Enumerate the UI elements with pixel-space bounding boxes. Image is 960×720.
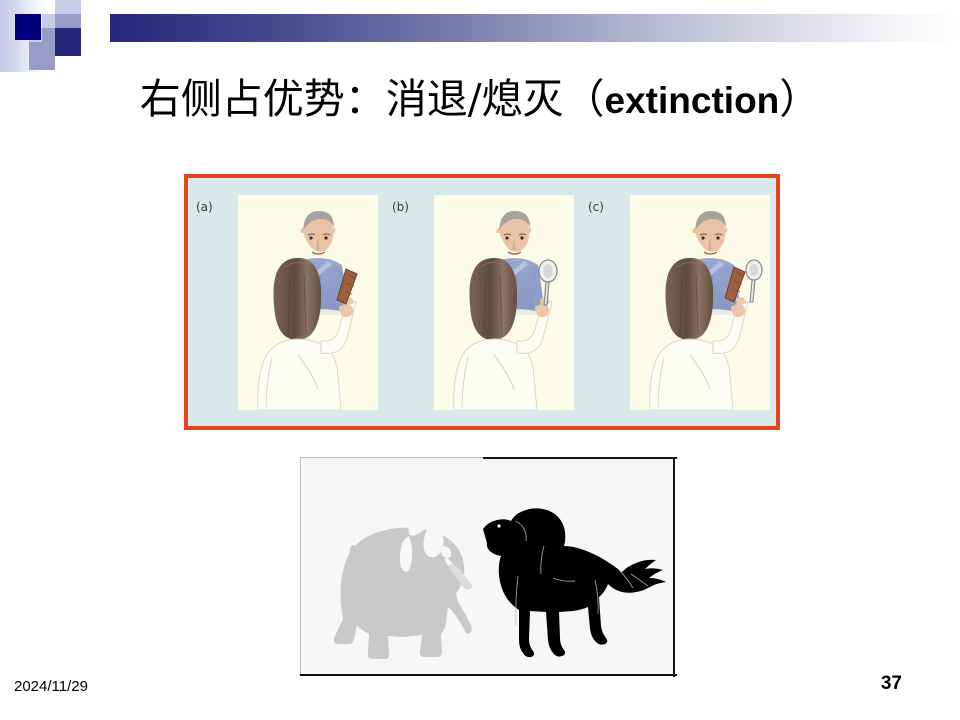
header-decoration [0,0,960,72]
figure-cell-a: (a) [188,178,384,426]
slide-title-cjk-suffix: ） [779,75,820,123]
slide-canvas: 右侧占优势：消退/熄灭（extinction） (a) [0,0,960,720]
figure-art-a [238,195,378,410]
figure-label-c: (c) [588,200,604,214]
slide-title-cjk-prefix: 右侧占优势：消退/熄灭（ [140,75,605,123]
figure-art-b [434,195,574,410]
slide-title-latin-term: extinction [605,80,780,121]
animals-illustration-box [300,457,675,676]
figure-panel: (a) [184,174,780,430]
deco-square-navy-accent [15,14,41,40]
slide-title: 右侧占优势：消退/熄灭（extinction） [0,72,960,128]
figure-cell-b: (b) [384,178,580,426]
header-gradient-bar [110,14,960,42]
figure-label-b: (b) [392,200,409,214]
footer-page-number: 37 [881,673,902,695]
footer-date: 2024/11/29 [14,678,88,695]
deco-square-navy-low [55,28,81,56]
dog-silhouette [483,508,666,657]
figure-label-a: (a) [196,200,213,214]
figure-cell-c: (c) [580,178,776,426]
figure-art-c [630,195,770,410]
deco-square-lavender-bottom [29,42,55,70]
